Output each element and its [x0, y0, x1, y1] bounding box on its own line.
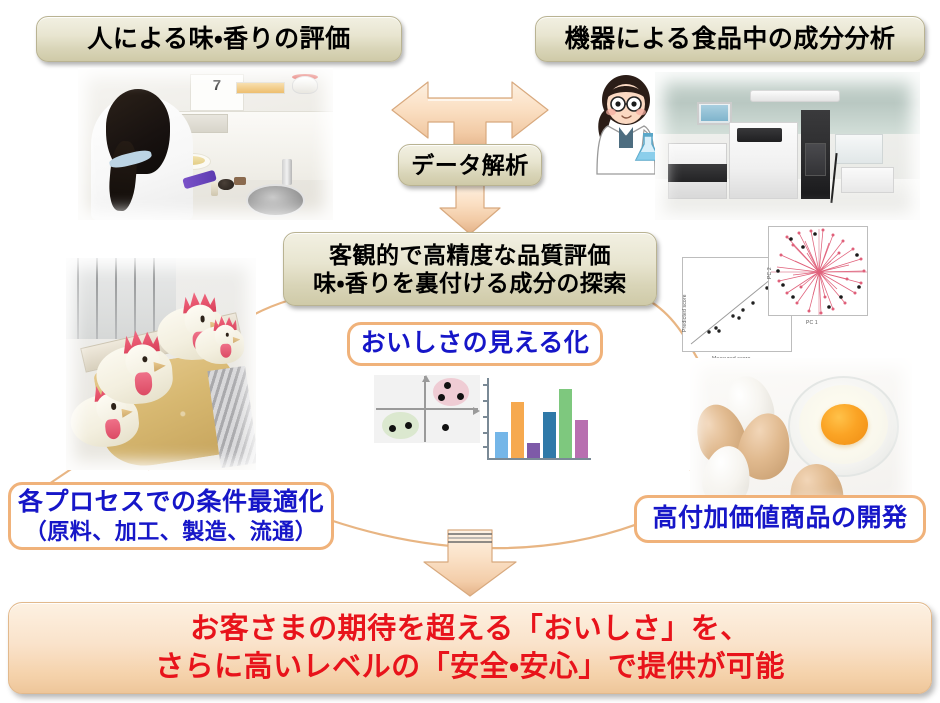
conclusion-line-1: お客さまの期待を超える「おいしさ」を、	[155, 610, 785, 648]
label-sensory-evaluation-text: 人による味・香りの評価	[87, 24, 350, 55]
scatter-cluster-pink	[433, 378, 469, 405]
label-sensory-evaluation: 人による味・香りの評価	[36, 16, 402, 62]
label-data-analysis-text: データ解析	[411, 151, 529, 179]
regression-ylabel: Predicted score	[682, 294, 688, 332]
booth-number: 7	[213, 77, 221, 94]
egg-yolk	[821, 404, 868, 445]
central-box-line-1: 客観的で高精度な品質評価	[329, 241, 611, 269]
autosampler-arm	[750, 90, 840, 102]
booth-tray	[236, 82, 284, 94]
label-high-value-product-development: 高付加価値商品の開発	[634, 495, 926, 543]
cage-bar	[96, 258, 98, 339]
down-arrow-to-conclusion	[418, 528, 522, 598]
bar-item	[575, 420, 588, 458]
booth-faucet	[282, 159, 292, 185]
bar-item	[495, 432, 508, 458]
bar-y-tick	[483, 400, 489, 402]
bar-y-tick	[483, 446, 489, 448]
instrument-unit-right-upper	[835, 134, 883, 164]
bar-y-tick	[483, 416, 489, 418]
high-value-product-text: 高付加価値商品の開発	[652, 503, 907, 534]
booth-jar	[292, 76, 318, 94]
label-data-analysis: データ解析	[398, 144, 542, 186]
bar-item	[543, 412, 556, 458]
bar-item	[511, 402, 524, 458]
hen	[194, 312, 245, 369]
scatter-point	[405, 422, 412, 429]
scatter-cluster-green	[382, 412, 418, 439]
scatter-y-axis-arrow	[422, 375, 430, 382]
photo-sensory-booth: 7	[78, 68, 333, 220]
conclusion-banner: お客さまの期待を超える「おいしさ」を、 さらに高いレベルの「安全・安心」で提供が…	[8, 602, 932, 694]
scatter-point	[442, 424, 449, 431]
down-arrow-to-central-box	[434, 184, 506, 236]
chart-pca-biplot: PC 2	[768, 226, 868, 316]
bar-x-axis	[487, 458, 591, 460]
instrument-unit-right-lower	[841, 167, 894, 194]
chart-cluster-scatter-mini	[374, 375, 480, 443]
instrument-unit-left-panel	[668, 164, 726, 182]
scatter-x-axis	[376, 408, 478, 410]
central-box-line-2: 味・香りを裏付ける成分の探索	[313, 269, 627, 297]
visualization-label-text: おいしさの見える化	[361, 328, 590, 359]
scatter-x-axis-arrow	[473, 407, 480, 415]
scatter-point	[438, 394, 445, 401]
process-optimization-line-1: 各プロセスでの条件最適化	[18, 487, 324, 518]
instrument-display-screen	[701, 105, 728, 121]
label-objective-quality-evaluation: 客観的で高精度な品質評価 味・香りを裏付ける成分の探索	[283, 232, 657, 306]
label-deliciousness-visualization: おいしさの見える化	[347, 322, 603, 366]
label-instrumental-analysis: 機器による食品中の成分分析	[535, 16, 925, 62]
process-optimization-line-2: （原料、加工、製造、流通）	[25, 518, 318, 546]
cage-bar	[77, 258, 79, 339]
chemist-illustration	[586, 70, 666, 185]
instrument-unit-center-top	[737, 128, 782, 141]
bar-y-tick	[483, 432, 489, 434]
booth-sample-cup	[211, 182, 219, 196]
bar-y-tick	[483, 384, 489, 386]
chart-bar-mini	[487, 378, 591, 460]
bar-item	[559, 389, 572, 458]
conclusion-line-2: さらに高いレベルの「安全・安心」で提供が可能	[155, 648, 785, 686]
bar-item	[527, 443, 540, 458]
pca-ylabel: PC 2	[767, 267, 773, 279]
hen-wattle	[104, 418, 121, 439]
scatter-point	[389, 425, 396, 432]
photo-eggs	[690, 358, 912, 510]
scatter-point	[457, 393, 464, 400]
pca-xlabel: PC 1	[806, 320, 818, 326]
booth-dark-cup	[218, 179, 233, 190]
photo-layer-hens	[66, 258, 256, 470]
mass-spectrometer-panel	[805, 143, 826, 176]
booth-sample-block	[234, 177, 247, 185]
booth-sink	[246, 184, 305, 217]
bidirectional-analysis-arrow	[352, 74, 588, 152]
photo-gcms-instruments	[655, 72, 920, 220]
label-process-optimization: 各プロセスでの条件最適化 （原料、加工、製造、流通）	[8, 482, 334, 550]
label-instrumental-analysis-text: 機器による食品中の成分分析	[565, 24, 896, 55]
infographic-canvas: 人による味・香りの評価 7 機器による食品中の成分	[0, 0, 940, 703]
